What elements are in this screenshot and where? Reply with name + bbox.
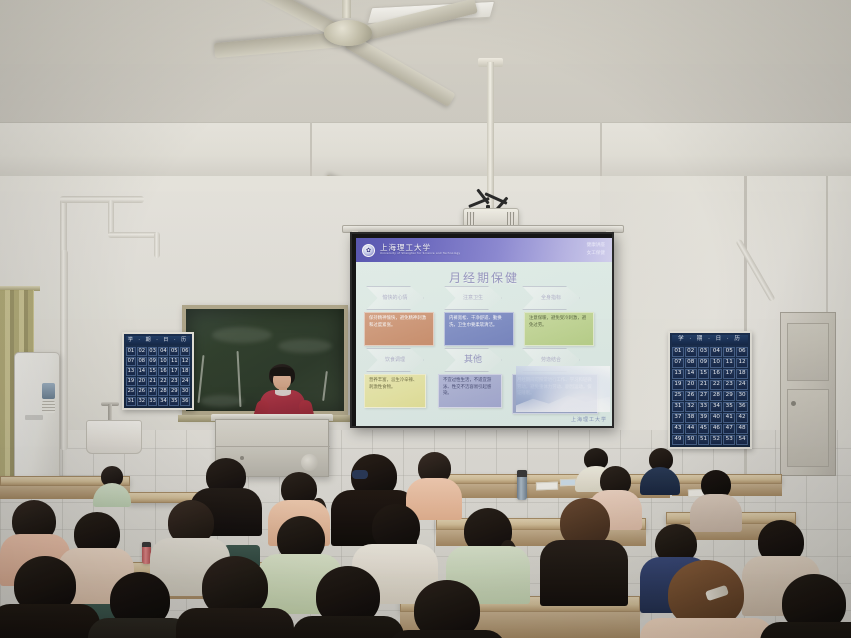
number-cell[interactable]: 28 [158,387,168,396]
number-cell[interactable]: 11 [723,358,735,368]
number-cell[interactable]: 19 [126,377,136,386]
number-cell[interactable]: 35 [723,402,735,412]
number-cell[interactable]: 05 [723,347,735,357]
number-cell[interactable]: 36 [180,397,190,406]
wall-pipe-icon [60,196,144,203]
slide-background-photo [516,366,610,412]
number-cell[interactable]: 25 [672,391,684,401]
chalk-smudge [200,395,244,407]
student-body [760,622,851,638]
number-cell[interactable]: 20 [685,380,697,390]
number-cell[interactable]: 09 [698,358,710,368]
chalk-smudge [212,327,272,343]
student [540,498,628,602]
student [690,470,742,526]
number-cell[interactable]: 02 [137,347,147,356]
number-cell[interactable]: 29 [169,387,179,396]
slide-box: 保持精神愉快，避免精神刺激和过度紧张。 [364,312,434,346]
number-cell[interactable]: 43 [672,424,684,434]
number-cell[interactable]: 45 [698,424,710,434]
university-name-en: University of Shanghai for Science and T… [380,253,460,256]
hair-clip [352,470,368,479]
beam-seam [310,122,312,184]
number-cell[interactable]: 30 [180,387,190,396]
number-cell[interactable]: 26 [685,391,697,401]
number-cell[interactable]: 44 [685,424,697,434]
number-cell[interactable]: 18 [180,367,190,376]
number-cell[interactable]: 14 [137,367,147,376]
number-cell[interactable]: 33 [148,397,158,406]
number-board-title: 学 · 期 · 日 · 历 [672,335,748,345]
number-cell[interactable]: 34 [158,397,168,406]
number-cell[interactable]: 28 [710,391,722,401]
student-body [640,618,774,638]
number-cell[interactable]: 23 [723,380,735,390]
chalk-mark [197,355,204,403]
number-cell[interactable]: 22 [158,377,168,386]
door-panel [787,323,829,381]
ac-vent [42,401,55,413]
slide-box-text: 注意保暖，避免受冷刺激，避免过劳。 [529,316,586,328]
number-grid: 0102030405060708091011121314151617181920… [126,347,190,406]
chevron-label: 愉快的心情 [366,286,424,310]
number-cell[interactable]: 06 [736,347,748,357]
number-cell[interactable]: 22 [710,380,722,390]
number-cell[interactable]: 32 [137,397,147,406]
student-body [93,483,131,507]
wall-pipe-icon [108,232,160,238]
number-cell[interactable]: 07 [672,358,684,368]
slide-box-text: 营养丰富，忌生冷辛辣、刺激性食物。 [369,378,417,390]
number-cell[interactable]: 07 [126,357,136,366]
ceiling-fan-icon [232,0,472,70]
slide-watermark: 上海理工大学 [571,416,607,423]
slide-photo-ridge [516,390,610,412]
chevron-text: 饮食调理 [385,357,405,364]
student [760,574,851,638]
presentation-slide: ✿ 上海理工大学 University of Shanghai for Scie… [356,238,612,426]
presenter-hair-front [270,367,294,376]
number-cell[interactable]: 51 [698,435,710,445]
water-bottle[interactable] [517,470,527,500]
number-cell[interactable]: 54 [736,435,748,445]
number-cell[interactable]: 11 [169,357,179,366]
number-cell[interactable]: 26 [137,387,147,396]
floor-air-conditioner-icon[interactable] [14,352,60,478]
wall-pipe-icon [108,200,114,236]
chevron-text: 愉快的心情 [382,295,407,302]
chevron-text: 其他 [464,354,482,366]
slide-box: 不宜过性生活，不适宜游泳、性交不洁容易引起感染。 [438,374,502,408]
student-body [640,467,680,495]
number-cell[interactable]: 35 [169,397,179,406]
number-board-title: 学 · 期 · 日 · 历 [126,336,190,345]
number-cell[interactable]: 13 [672,369,684,379]
slide-university-name: 上海理工大学 University of Shanghai for Scienc… [380,244,460,255]
university-crest-icon: ✿ [362,244,375,257]
number-cell[interactable]: 27 [148,387,158,396]
wall-pipe-icon [60,250,68,450]
number-cell[interactable]: 03 [148,347,158,356]
ceiling-beam [0,122,851,184]
student [93,466,131,502]
number-cell[interactable]: 15 [698,369,710,379]
wall-sink-icon [86,420,142,454]
number-cell[interactable]: 30 [736,391,748,401]
number-cell[interactable]: 05 [169,347,179,356]
student-body [0,604,100,638]
number-cell[interactable]: 08 [137,357,147,366]
number-cell[interactable]: 02 [685,347,697,357]
number-cell[interactable]: 23 [169,377,179,386]
number-cell[interactable]: 49 [672,435,684,445]
number-cell[interactable]: 31 [126,397,136,406]
number-cell[interactable]: 38 [685,413,697,423]
number-cell[interactable]: 21 [698,380,710,390]
ac-display-panel [42,383,55,399]
number-cell[interactable]: 21 [148,377,158,386]
number-cell[interactable]: 13 [126,367,136,376]
number-cell[interactable]: 10 [710,358,722,368]
slide-box-text: 不宜过性生活，不适宜游泳、性交不洁容易引起感染。 [443,378,491,396]
slide-title: 月经期保健 [356,269,612,286]
student [640,448,680,492]
slide-box-text: 内裤宽松、干净舒适、勤换洗，卫生巾要柔软清洁。 [449,316,502,328]
chevron-label: 其他 [444,348,502,372]
number-cell[interactable]: 52 [710,435,722,445]
lectern-seam [216,446,330,447]
chevron-label: 饮食调理 [366,348,424,372]
slide-box: 营养丰富，忌生冷辛辣、刺激性食物。 [364,374,426,408]
number-cell[interactable]: 20 [137,377,147,386]
slide-header-right: 健康讲座 女工保健 [587,242,605,258]
chevron-text: 全身指标 [541,295,561,302]
number-board-right[interactable]: 学 · 期 · 日 · 历 01020304050607080910111213… [668,331,752,449]
number-cell[interactable]: 32 [685,402,697,412]
student-body [176,608,294,638]
fan-blade [214,32,343,58]
fan-downrod [342,0,351,18]
chevron-label: 全身指标 [522,286,580,310]
student [176,556,294,638]
number-cell[interactable]: 04 [158,347,168,356]
beam-seam [600,122,602,184]
number-cell[interactable]: 17 [723,369,735,379]
projector-pole [487,62,494,212]
slide-box-text: 保持精神愉快，避免精神刺激和过度紧张。 [369,316,426,328]
number-cell[interactable]: 12 [736,358,748,368]
lectern-speaker [301,454,318,471]
number-cell[interactable]: 47 [723,424,735,434]
number-cell[interactable]: 40 [710,413,722,423]
chevron-text: 注意卫生 [463,295,483,302]
number-cell[interactable]: 29 [723,391,735,401]
number-cell[interactable]: 41 [723,413,735,423]
number-cell[interactable]: 34 [710,402,722,412]
number-cell[interactable]: 33 [698,402,710,412]
wall-pipe-icon [154,232,160,258]
number-cell[interactable]: 27 [698,391,710,401]
number-cell[interactable]: 37 [672,413,684,423]
number-cell[interactable]: 42 [736,413,748,423]
number-cell[interactable]: 50 [685,435,697,445]
number-cell[interactable]: 15 [148,367,158,376]
number-cell[interactable]: 46 [710,424,722,434]
slide-header: ✿ 上海理工大学 University of Shanghai for Scie… [356,238,612,262]
number-cell[interactable]: 24 [736,380,748,390]
chalk-mark [322,371,328,401]
student-body [388,630,506,638]
chalk-smudge [278,339,332,353]
beam-edge-line [0,122,851,123]
number-cell[interactable]: 39 [698,413,710,423]
number-cell[interactable]: 08 [685,358,697,368]
number-cell[interactable]: 36 [736,402,748,412]
student [388,580,506,638]
number-cell[interactable]: 01 [126,347,136,356]
chevron-text: 劳逸结合 [541,357,561,364]
number-cell[interactable]: 48 [736,424,748,434]
number-cell[interactable]: 12 [180,357,190,366]
number-cell[interactable]: 17 [169,367,179,376]
chevron-label: 注意卫生 [444,286,502,310]
ac-logo [25,415,43,420]
student-body [540,540,628,606]
classroom-photo: 学 · 期 · 日 · 历 01020304050607080910111213… [0,0,851,638]
slide-box: 内裤宽松、干净舒适、勤换洗，卫生巾要柔软清洁。 [444,312,514,346]
notebook[interactable] [536,482,558,491]
number-cell[interactable]: 53 [723,435,735,445]
number-board-left[interactable]: 学 · 期 · 日 · 历 01020304050607080910111213… [122,332,194,410]
fan-hub [324,20,372,46]
classroom-door-icon[interactable] [780,312,836,476]
number-cell[interactable]: 31 [672,402,684,412]
wall-pipe-icon [60,196,67,258]
presenter-collar [275,390,291,396]
projection-screen: ✿ 上海理工大学 University of Shanghai for Scie… [350,232,614,428]
number-cell[interactable]: 03 [698,347,710,357]
number-cell[interactable]: 24 [180,377,190,386]
number-cell[interactable]: 25 [126,387,136,396]
number-cell[interactable]: 01 [672,347,684,357]
number-cell[interactable]: 04 [710,347,722,357]
number-cell[interactable]: 16 [710,369,722,379]
slide-header-line2: 女工保健 [587,250,605,258]
number-cell[interactable]: 09 [148,357,158,366]
student [0,556,100,638]
number-grid: 0102030405060708091011121314151617181920… [672,347,748,445]
number-cell[interactable]: 06 [180,347,190,356]
paper[interactable] [560,479,576,487]
bottle-cap [517,470,527,477]
slide-header-line1: 健康讲座 [587,242,605,250]
door-knob[interactable] [791,401,796,406]
number-cell[interactable]: 10 [158,357,168,366]
slide-box: 注意保暖，避免受冷刺激，避免过劳。 [524,312,594,346]
number-cell[interactable]: 16 [158,367,168,376]
number-cell[interactable]: 19 [672,380,684,390]
number-cell[interactable]: 18 [736,369,748,379]
number-cell[interactable]: 14 [685,369,697,379]
